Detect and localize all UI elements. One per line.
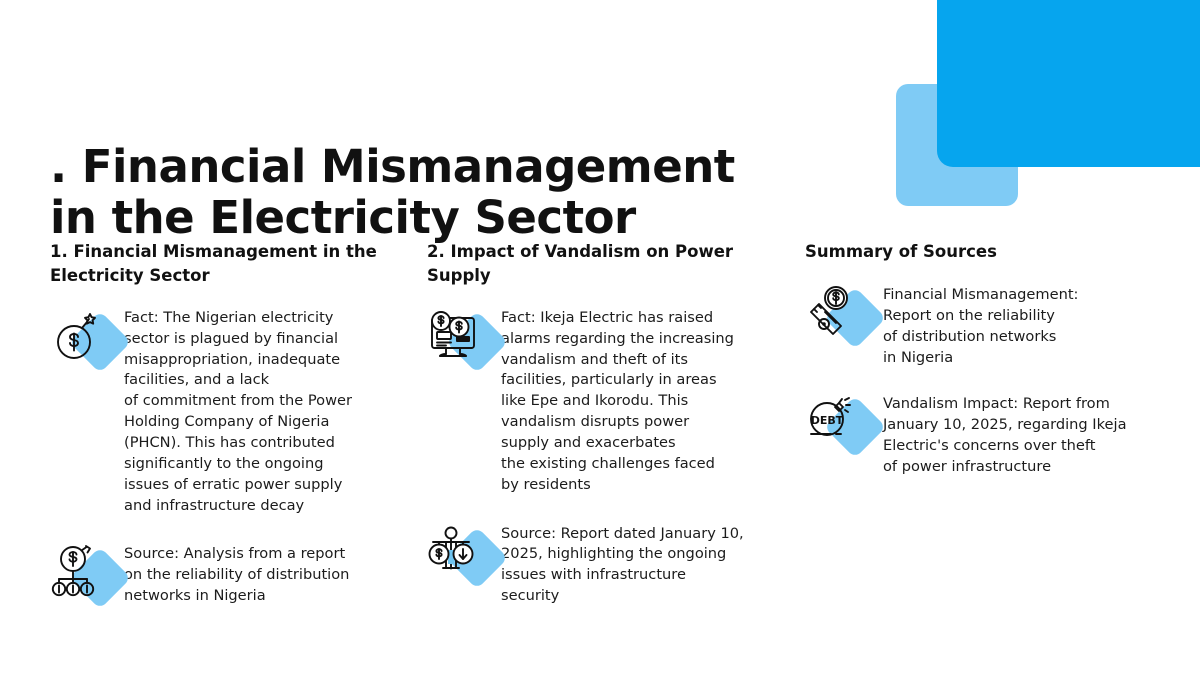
debt-bomb-icon: DEBT (805, 393, 883, 451)
bright-blue-rounded-rect-icon (937, 0, 1200, 167)
column-financial-mismanagement: 1. Financial Mismanagement in the Electr… (50, 240, 395, 633)
page-title: . Financial Mismanagement in the Electri… (50, 142, 750, 243)
list-item-text: Source: Report dated January 10, 2025, h… (501, 522, 744, 607)
light-blue-rounded-rect-icon (896, 84, 1018, 206)
column-heading-2: 2. Impact of Vandalism on Power Supply (427, 240, 777, 288)
svg-text:DEBT: DEBT (811, 414, 844, 427)
list-item: Source: Report dated January 10, 2025, h… (427, 522, 777, 607)
list-item: DEBT Vandalism Impact: Report from Janua… (805, 391, 1165, 478)
list-item: Source: Analysis from a report on the re… (50, 542, 395, 607)
column-vandalism-impact: 2. Impact of Vandalism on Power Supply (427, 240, 777, 633)
list-item: Fact: The Nigerian electricity sector is… (50, 306, 395, 517)
list-item-text: Vandalism Impact: Report from January 10… (883, 391, 1127, 478)
monitor-finance-icon (427, 308, 501, 370)
list-item-text: Source: Analysis from a report on the re… (124, 542, 349, 607)
column-heading-3: Summary of Sources (805, 240, 1165, 264)
balance-scale-money-icon (427, 524, 501, 586)
money-bomb-icon (50, 308, 124, 370)
money-distribution-hierarchy-icon (50, 544, 124, 606)
list-item-text: Financial Mismanagement: Report on the r… (883, 282, 1078, 369)
list-item: Fact: Ikeja Electric has raised alarms r… (427, 306, 777, 496)
money-trap-icon (805, 284, 883, 342)
list-item-text: Fact: The Nigerian electricity sector is… (124, 306, 352, 517)
column-heading-1: 1. Financial Mismanagement in the Electr… (50, 240, 395, 288)
list-item: Financial Mismanagement: Report on the r… (805, 282, 1165, 369)
list-item-text: Fact: Ikeja Electric has raised alarms r… (501, 306, 734, 496)
column-summary-of-sources: Summary of Sources Financial Mismanageme… (805, 240, 1165, 499)
